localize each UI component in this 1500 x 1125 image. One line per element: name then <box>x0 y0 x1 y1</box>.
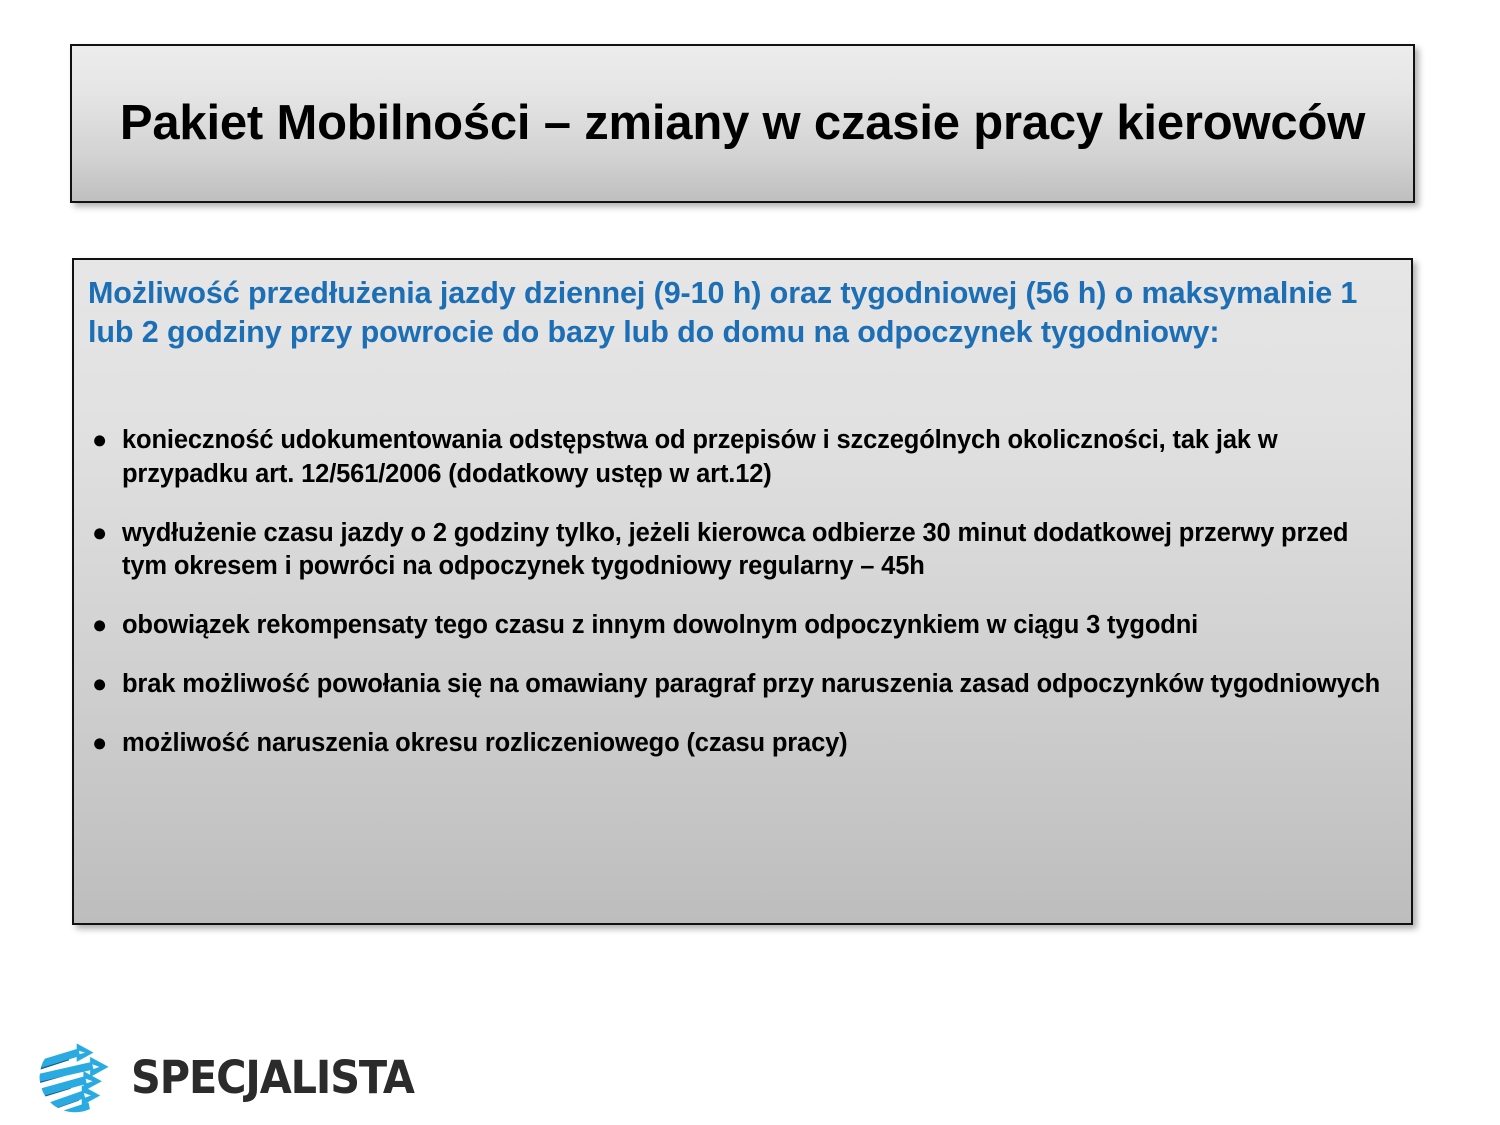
list-item: ● obowiązek rekompensaty tego czasu z in… <box>88 609 1389 642</box>
list-item-text: wydłużenie czasu jazdy o 2 godziny tylko… <box>122 519 1348 580</box>
logo-wordmark: SPECJALISTA <box>131 1055 414 1100</box>
list-item: ● brak możliwość powołania się na omawia… <box>88 668 1389 701</box>
lead-paragraph: Możliwość przedłużenia jazdy dziennej (9… <box>88 274 1389 351</box>
content-box: Możliwość przedłużenia jazdy dziennej (9… <box>72 258 1413 925</box>
page-title: Pakiet Mobilności – zmiany w czasie prac… <box>96 94 1389 154</box>
globe-arrows-icon <box>33 1035 117 1119</box>
list-item-text: brak możliwość powołania się na omawiany… <box>122 670 1380 698</box>
list-item: ● konieczność udokumentowania odstępstwa… <box>88 424 1389 490</box>
list-item: ● wydłużenie czasu jazdy o 2 godziny tyl… <box>88 517 1389 583</box>
bullet-list: ● konieczność udokumentowania odstępstwa… <box>88 424 1389 760</box>
slide: Pakiet Mobilności – zmiany w czasie prac… <box>0 0 1500 1125</box>
list-item-text: konieczność udokumentowania odstępstwa o… <box>122 426 1278 487</box>
list-item-text: możliwość naruszenia okresu rozliczeniow… <box>122 729 848 757</box>
bullet-marker-icon: ● <box>92 424 107 457</box>
title-box: Pakiet Mobilności – zmiany w czasie prac… <box>70 44 1415 203</box>
list-item-text: obowiązek rekompensaty tego czasu z inny… <box>122 611 1198 639</box>
bullet-marker-icon: ● <box>92 517 107 550</box>
list-item: ● możliwość naruszenia okresu rozliczeni… <box>88 727 1389 760</box>
bullet-marker-icon: ● <box>92 727 107 760</box>
bullet-marker-icon: ● <box>92 609 107 642</box>
logo: SPECJALISTA <box>33 1034 383 1120</box>
bullet-marker-icon: ● <box>92 668 107 701</box>
